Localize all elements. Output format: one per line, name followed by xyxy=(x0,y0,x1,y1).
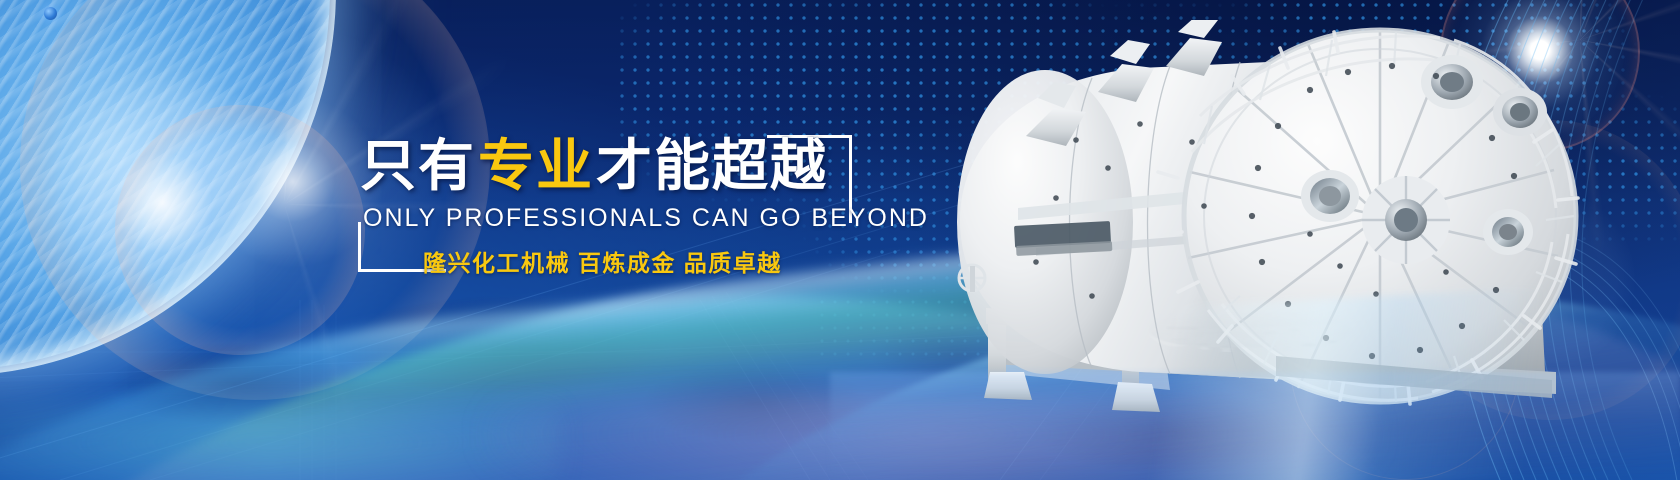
headline-main-accent: 专业 xyxy=(476,134,596,197)
headline-main: 只有专业才能超越 xyxy=(360,138,828,194)
rim-lugs xyxy=(1158,32,1578,404)
earth-cloud-texture xyxy=(0,0,330,370)
small-blue-sphere-icon xyxy=(44,7,57,20)
headline-main-prefix: 只有 xyxy=(360,134,476,197)
industrial-pressure-vessel-image xyxy=(840,20,1640,420)
lens-flare-ring-left-inner xyxy=(115,105,365,355)
lens-flare-ring-1 xyxy=(1440,0,1640,152)
vessel-end-plate xyxy=(1033,30,1578,404)
headline-subtitle: 隆兴化工机械 百炼成金 品质卓越 xyxy=(423,244,782,278)
earth-planet-graphic xyxy=(0,0,330,370)
curved-fibre-lines-right xyxy=(1380,0,1680,480)
lens-flare-ring-4 xyxy=(1290,250,1520,480)
background-dark-vignette xyxy=(0,0,1680,480)
handwheel-valve xyxy=(959,265,985,292)
diagonal-light-streaks xyxy=(0,0,1680,480)
world-map-silhouette xyxy=(0,0,1680,480)
safety-cage-hoops xyxy=(1192,36,1572,400)
light-glow-teal xyxy=(0,404,560,480)
lens-flare-ring-2 xyxy=(1400,120,1680,420)
headline-block: 只有专业才能超越 ONLY PROFESSIONALS CAN GO BEYON… xyxy=(355,128,825,288)
centre-hub xyxy=(1362,176,1450,264)
promotional-banner: 只有专业才能超越 ONLY PROFESSIONALS CAN GO BEYON… xyxy=(0,0,1680,480)
top-nozzles xyxy=(1026,20,1222,146)
machine-floor-reflection xyxy=(840,308,1640,352)
headline-main-suffix: 才能超越 xyxy=(596,134,828,197)
dotted-world-map-pattern-secondary xyxy=(820,300,1020,360)
face-nozzles xyxy=(1301,55,1547,255)
lens-flare-ring-3 xyxy=(1455,190,1635,370)
curved-fibre-lines-right-lower xyxy=(1530,220,1680,480)
lens-flare-rays-right xyxy=(1300,0,1680,320)
floor-gloss-sheen xyxy=(830,372,1680,480)
light-beam-lower-right xyxy=(856,277,1680,480)
light-glow-pink xyxy=(480,392,1380,480)
lens-flare-star-core xyxy=(1430,0,1650,160)
face-bolts xyxy=(1033,63,1517,359)
background-gradient xyxy=(0,0,1680,480)
vessel-body xyxy=(957,60,1340,380)
support-skid xyxy=(984,246,1556,412)
earth-atmosphere-glow xyxy=(0,0,336,376)
headline-english-tagline: ONLY PROFESSIONALS CAN GO BEYOND xyxy=(363,204,929,233)
